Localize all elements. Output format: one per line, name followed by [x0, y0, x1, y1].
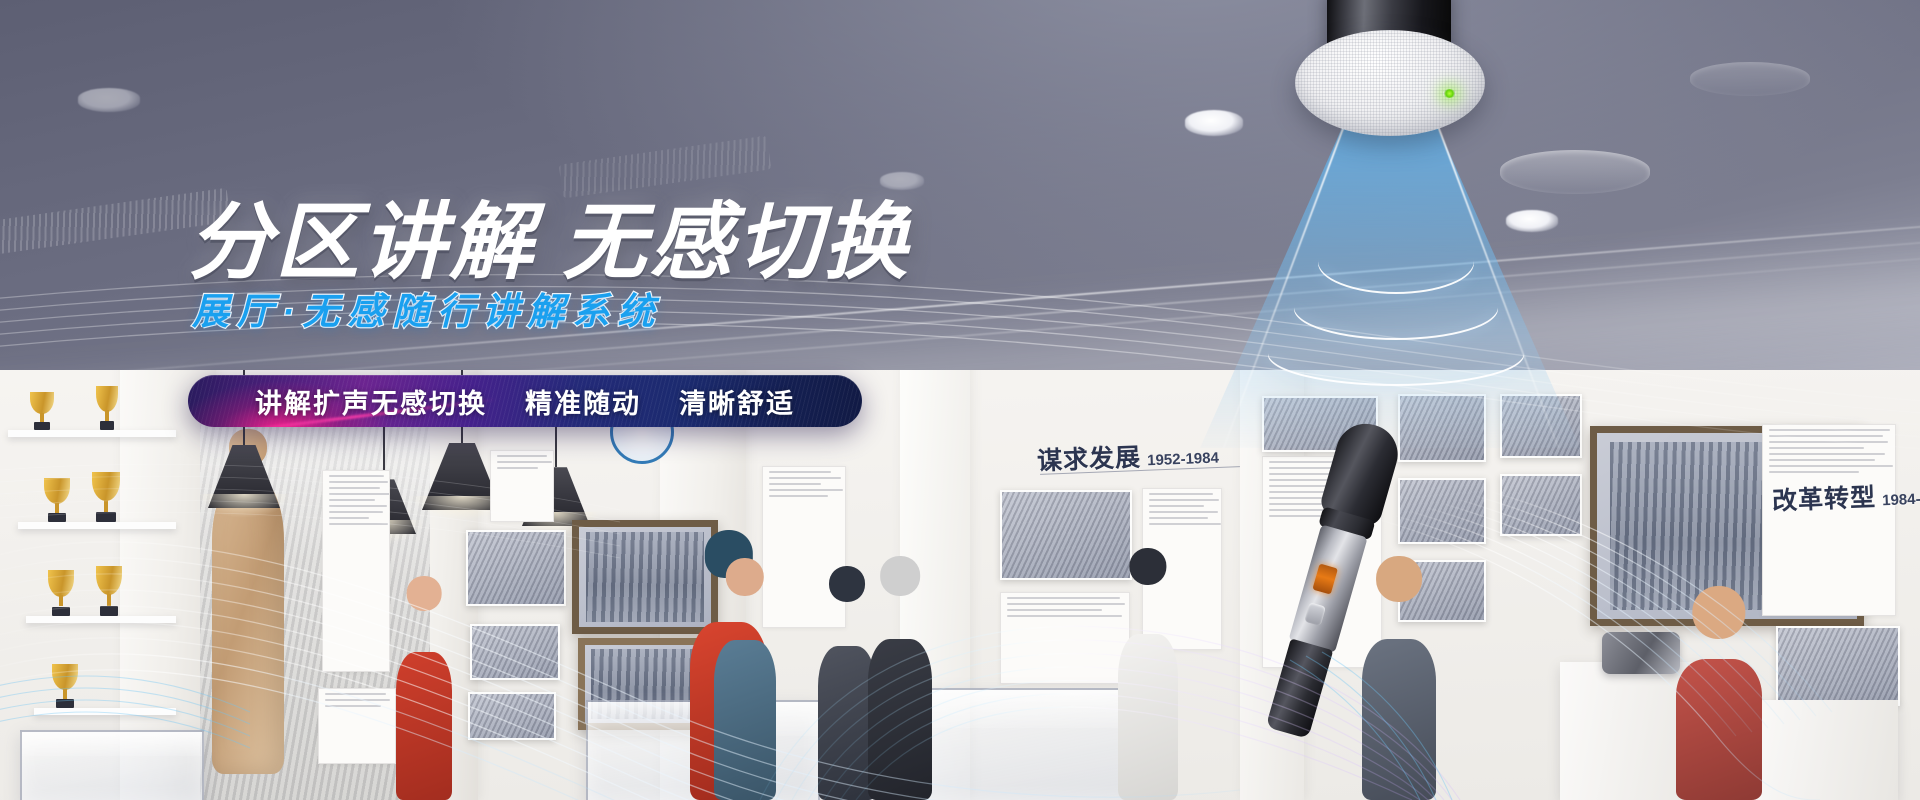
hero-copy: 分区讲解 无感切换 展厅·无感随行讲解系统 讲解扩声无感切换 精准随动 清晰舒适	[188, 200, 1088, 332]
sound-wave-arc	[1268, 324, 1524, 386]
speaker-grille	[1295, 30, 1485, 136]
exhibition-hall-scene	[0, 370, 1920, 800]
ceiling-downlight	[880, 172, 924, 190]
visitor	[396, 576, 452, 800]
visitor	[1118, 548, 1178, 800]
ceiling-vent	[1690, 62, 1810, 96]
exhibit-artifact	[1602, 632, 1680, 674]
mic-tail	[1266, 638, 1334, 739]
hero-banner: 谋求发展1952-1984 改革转型1984-2010	[0, 0, 1920, 800]
ceiling-downlight	[1185, 110, 1243, 136]
wall-heading-1-years: 1952-1984	[1147, 450, 1219, 470]
tagline-item-2: 精准随动	[525, 382, 641, 421]
ceiling-speaker	[1295, 0, 1485, 151]
page-title: 分区讲解 无感切换	[188, 200, 1088, 286]
exhibit-photo	[1398, 478, 1486, 544]
exhibit-text-panel	[1000, 592, 1130, 684]
exhibit-photo	[468, 692, 556, 740]
feature-tagline-pill: 讲解扩声无感切换 精准随动 清晰舒适	[188, 375, 862, 427]
ceiling-downlight	[1506, 210, 1558, 232]
exhibit-photo	[1000, 490, 1132, 580]
bronze-statue	[212, 474, 284, 774]
visitor	[714, 558, 776, 800]
tagline-item-1: 讲解扩声无感切换	[255, 382, 487, 421]
page-subtitle: 展厅·无感随行讲解系统	[192, 292, 1088, 333]
visitor-presenter	[1362, 556, 1436, 800]
exhibit-text-panel	[490, 450, 554, 522]
exhibit-photo	[466, 530, 566, 606]
ceiling-downlight	[78, 88, 140, 112]
exhibit-text-panel	[322, 470, 390, 672]
wall-heading-2-title: 改革转型	[1772, 484, 1877, 516]
tagline-item-3: 清晰舒适	[679, 382, 795, 421]
exhibit-photo	[1776, 626, 1900, 706]
exhibit-photo	[470, 624, 560, 680]
display-case	[20, 730, 204, 800]
speaker-led-indicator	[1443, 89, 1456, 98]
exhibit-photo	[1500, 474, 1582, 536]
exhibit-plinth	[1748, 700, 1898, 800]
wall-heading-2: 改革转型1984-2010	[1771, 475, 1920, 518]
visitor	[1676, 586, 1762, 800]
wall-heading-2-years: 1984-2010	[1882, 490, 1920, 510]
visitor	[868, 556, 932, 800]
ceiling-vent	[1500, 150, 1650, 194]
exhibit-text-panel	[318, 688, 396, 764]
exhibit-text-panel	[1762, 424, 1896, 616]
